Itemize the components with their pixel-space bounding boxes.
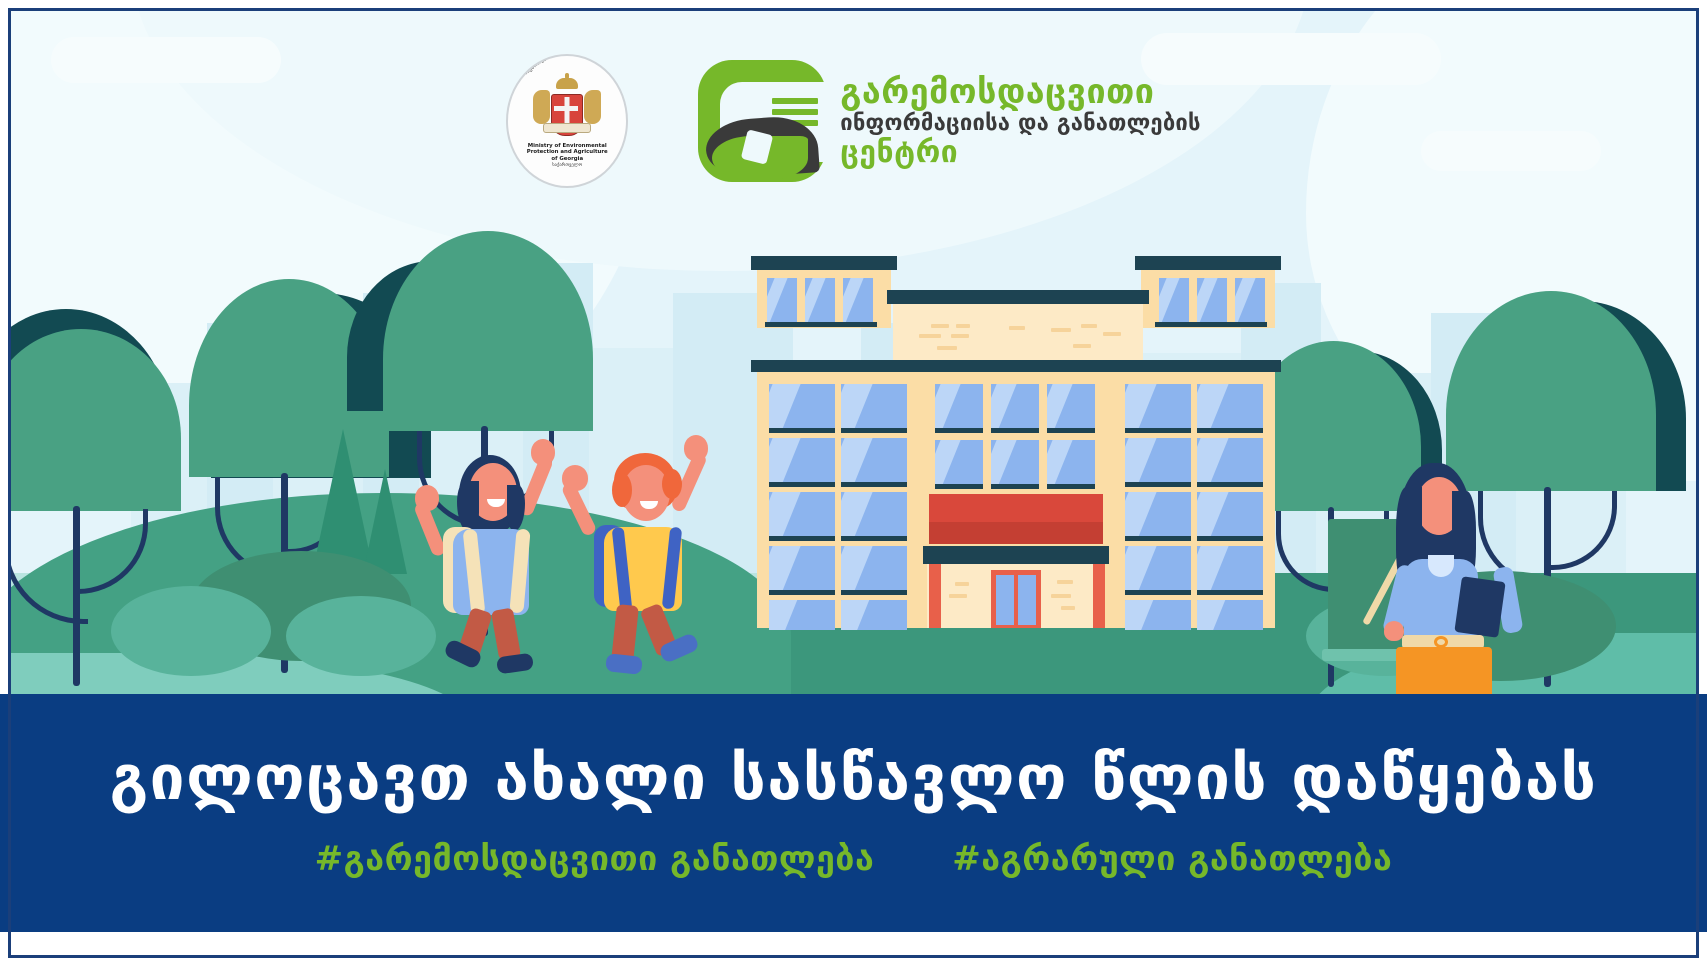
emblem-ring-text-ka: საქართველოს გარემოს დაცვისა და სოფლის მე… — [523, 54, 628, 76]
ceie-line-2: ინფორმაციისა და განათლების — [840, 113, 1201, 135]
header-logos: საქართველოს გარემოს დაცვისა და სოფლის მე… — [0, 46, 1707, 196]
bottom-banner: გილოცავთ ახალი სასწავლო წლის დაწყებას #გ… — [0, 694, 1707, 932]
hashtag-row: #გარემოსდაცვითი განათლება #აგრარული განა… — [315, 839, 1393, 879]
lion-right-icon — [584, 90, 601, 124]
poster-root: საქართველოს გარემოს დაცვისა და სოფლის მე… — [0, 0, 1707, 966]
hashtag-agrarian-education: #აგრარული განათლება — [952, 839, 1392, 879]
motto-scroll — [543, 123, 591, 133]
ceie-logo-text: გარემოსდაცვითი ინფორმაციისა და განათლები… — [840, 75, 1201, 168]
teacher-with-pointer — [1336, 463, 1516, 703]
coat-of-arms — [534, 80, 600, 142]
school-building — [751, 238, 1281, 628]
open-book-green-logo-icon — [698, 60, 826, 182]
ceie-logo: გარემოსდაცვითი ინფორმაციისა და განათლები… — [698, 60, 1201, 182]
hashtag-environmental-education: #გარემოსდაცვითი განათლება — [315, 839, 875, 879]
notebook-icon — [1454, 576, 1505, 638]
footer-strip — [0, 932, 1707, 966]
lion-left-icon — [533, 90, 550, 124]
ceie-line-3: ცენტრი — [840, 138, 1201, 168]
ceie-line-1: გარემოსდაცვითი — [840, 75, 1201, 109]
headline-text: გილოცავთ ახალი სასწავლო წლის დაწყებას — [110, 747, 1598, 809]
bush-icon — [111, 586, 271, 676]
crown-icon — [556, 78, 578, 89]
girl-student-waving — [411, 433, 561, 653]
ministry-emblem-icon: საქართველოს გარემოს დაცვისა და სოფლის მე… — [506, 54, 628, 188]
boy-student-waving — [556, 433, 716, 658]
